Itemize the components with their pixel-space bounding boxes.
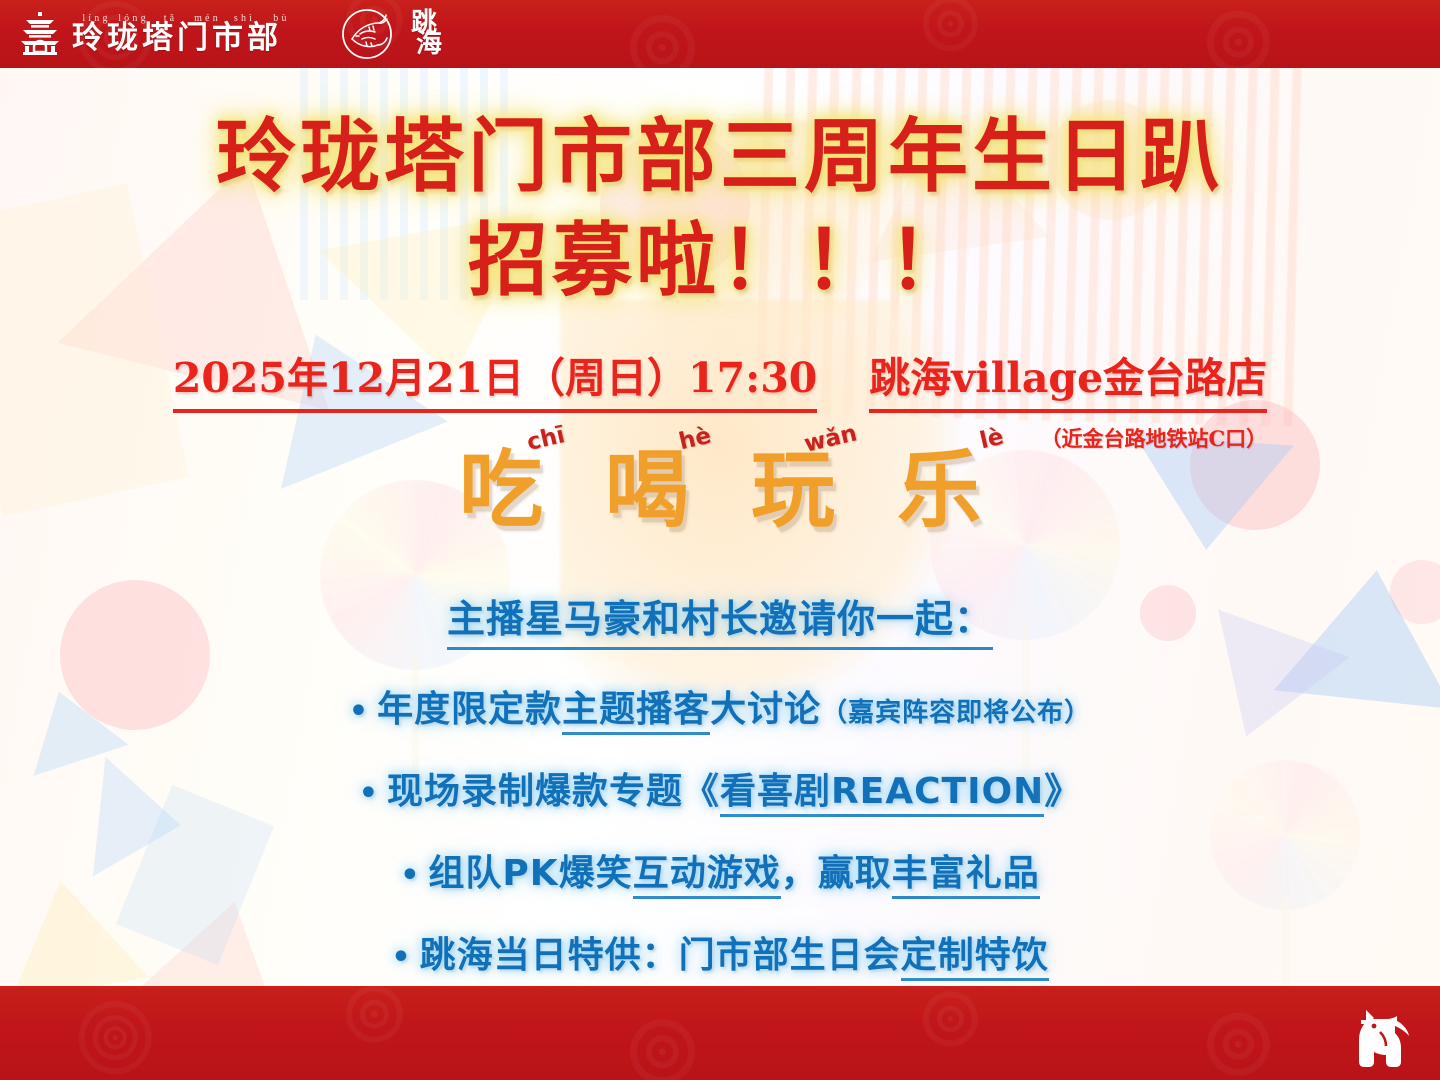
bullet-note-0: （嘉宾阵容即将公布） (821, 698, 1091, 728)
tiaohai-wordmark: 跳 海 (406, 11, 442, 56)
brand-block: líng lóng tǎ mén shì bù 玲珑塔门市部 (72, 13, 300, 55)
bullet-pre-2: 组队PK爆笑 (428, 853, 632, 894)
joy-char-1: 喝 (605, 441, 689, 539)
joy-item-3: lè 乐 (897, 448, 981, 532)
joy-pinyin-1: hè (677, 423, 714, 456)
header: líng lóng tǎ mén shì bù 玲珑塔门市部 (0, 0, 1440, 68)
bullet-underlined-0: 主题播客 (562, 689, 710, 735)
joy-item-0: chī 吃 (459, 448, 543, 532)
event-datetime: 2025年12月21日（周日）17:30 (173, 344, 817, 413)
headline-line-2: 招募啦！！！ (0, 196, 1440, 312)
dog-silhouette-icon (1336, 1002, 1412, 1074)
joy-item-2: wǎn 玩 (751, 448, 835, 532)
pagoda-icon (18, 11, 62, 57)
poster-body: 玲珑塔门市部三周年生日趴 招募啦！！！ 2025年12月21日（周日）17:30… (0, 68, 1440, 986)
program-bullet-3: •跳海当日特供：门市部生日会定制特饮 (0, 926, 1440, 978)
bullet-post-0: 大讨论 (710, 689, 821, 730)
bullet-post-2: ，赢取 (781, 853, 892, 894)
joy-item-1: hè 喝 (605, 448, 689, 532)
bullet-marker-3: • (391, 940, 411, 975)
bullet-underlined-3: 定制特饮 (901, 935, 1049, 981)
program-block: 主播星马豪和村长邀请你一起： •年度限定款主题播客大讨论（嘉宾阵容即将公布） •… (0, 588, 1440, 978)
joy-pinyin-3: lè (977, 424, 1006, 455)
bullet-underlined2-2: 丰富礼品 (892, 853, 1040, 899)
bullet-pre-3: 跳海当日特供：门市部生日会 (420, 935, 901, 976)
bullet-marker-1: • (359, 776, 379, 811)
joy-slogan-row: chī 吃 hè 喝 wǎn 玩 lè 乐 (0, 448, 1440, 532)
joy-char-3: 乐 (897, 441, 981, 539)
tiaohai-logo: 跳 海 (336, 5, 442, 63)
brand-name: 玲珑塔门市部 (72, 22, 300, 55)
program-bullet-2: •组队PK爆笑互动游戏，赢取丰富礼品 (0, 844, 1440, 896)
bullet-post-1: 》 (1044, 771, 1081, 812)
bullet-underlined-2: 互动游戏 (633, 853, 781, 899)
program-bullet-0: •年度限定款主题播客大讨论（嘉宾阵容即将公布） (0, 680, 1440, 732)
bullet-marker-2: • (400, 858, 420, 893)
bullet-underlined-1: 看喜剧REACTION (720, 771, 1044, 817)
bullet-marker-0: • (349, 694, 369, 729)
joy-char-2: 玩 (751, 441, 835, 539)
event-info-row: 2025年12月21日（周日）17:30 跳海village金台路店 （近金台路… (0, 344, 1440, 453)
event-venue-block: 跳海village金台路店 （近金台路地铁站C口） (869, 344, 1267, 453)
tiaohai-char-2: 海 (416, 32, 442, 57)
headline-line-1: 玲珑塔门市部三周年生日趴 (0, 92, 1440, 208)
bullet-pre-0: 年度限定款 (377, 689, 562, 730)
event-venue: 跳海village金台路店 (869, 344, 1267, 413)
bullet-pre-1: 现场录制爆款专题《 (387, 771, 720, 812)
program-lead: 主播星马豪和村长邀请你一起： (447, 588, 993, 650)
program-bullet-1: •现场录制爆款专题《看喜剧REACTION》 (0, 762, 1440, 814)
poster-canvas: líng lóng tǎ mén shì bù 玲珑塔门市部 (0, 0, 1440, 1080)
footer-band (0, 986, 1440, 1080)
tiaohai-circle-fish-logo-icon (336, 5, 402, 63)
